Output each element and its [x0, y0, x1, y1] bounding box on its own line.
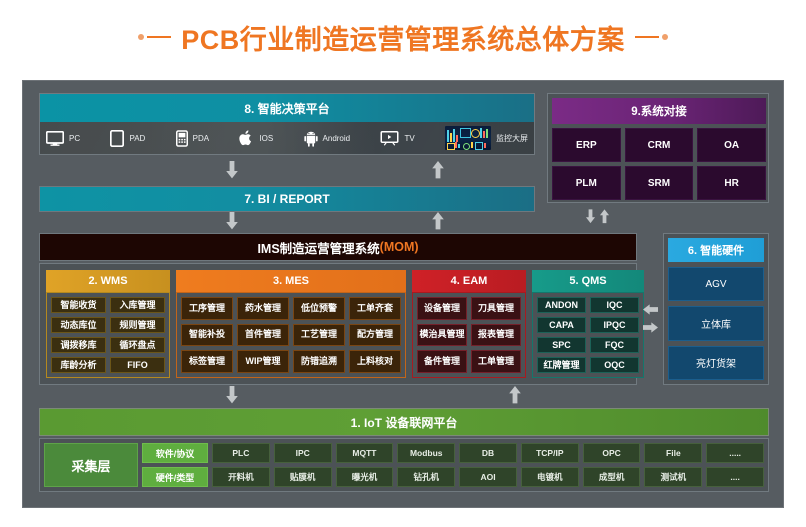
- device-pad[interactable]: PAD: [110, 130, 145, 147]
- arrow-up-iot-to-mom: [508, 386, 522, 404]
- slide-canvas: PCB行业制造运营管理系统总体方案 8. 智能决策平台 PC PA: [0, 0, 806, 527]
- device-label: TV: [404, 134, 414, 143]
- device-ios[interactable]: IOS: [239, 129, 273, 147]
- slide-title-row: PCB行业制造运营管理系统总体方案: [0, 14, 806, 60]
- docking-item-crm[interactable]: CRM: [625, 128, 694, 162]
- software-cell[interactable]: IPC: [274, 443, 332, 463]
- system-docking-title: 9.系统对接: [552, 98, 766, 124]
- collection-layer-table: 软件/协议 PLC IPC MQTT Modbus DB TCP/IP OPC …: [142, 443, 764, 487]
- wms-item[interactable]: FIFO: [110, 357, 165, 373]
- hardware-cell[interactable]: 测试机: [644, 467, 702, 487]
- docking-item-oa[interactable]: OA: [697, 128, 766, 162]
- module-qms: 5. QMS ANDON IQC CAPA IPQC SPC FQC 红牌管理 …: [532, 270, 644, 378]
- device-label: PC: [69, 134, 80, 143]
- device-tv[interactable]: TV: [380, 131, 414, 146]
- decision-platform-title: 8. 智能决策平台: [40, 94, 534, 122]
- module-eam-title: 4. EAM: [412, 270, 526, 292]
- iot-platform-bar: 1. IoT 设备联网平台: [39, 408, 769, 436]
- eam-item[interactable]: 工单管理: [471, 350, 521, 373]
- mes-item[interactable]: 工序管理: [181, 297, 233, 320]
- arrow-up-mom-to-bi: [431, 212, 445, 230]
- module-mes-grid: 工序管理 药水管理 低位预警 工单齐套 智能补投 首件管理 工艺管理 配方管理 …: [176, 292, 406, 378]
- module-qms-title: 5. QMS: [532, 270, 644, 292]
- arrow-down-mom-to-iot: [225, 386, 239, 404]
- software-cell[interactable]: PLC: [212, 443, 270, 463]
- docking-item-erp[interactable]: ERP: [552, 128, 621, 162]
- hardware-cell[interactable]: 电镀机: [521, 467, 579, 487]
- module-mes-title: 3. MES: [176, 270, 406, 292]
- module-wms: 2. WMS 智能收货 入库管理 动态库位 规则管理 调拨移库 循环盘点 库龄分…: [46, 270, 170, 378]
- mes-item[interactable]: WIP管理: [237, 350, 289, 373]
- wms-item[interactable]: 循环盘点: [110, 337, 165, 353]
- hardware-cell[interactable]: 成型机: [583, 467, 641, 487]
- hardware-item-light-shelf[interactable]: 亮灯货架: [668, 346, 764, 380]
- software-cell[interactable]: .....: [706, 443, 764, 463]
- table-row: 软件/协议 PLC IPC MQTT Modbus DB TCP/IP OPC …: [142, 443, 764, 463]
- software-cell[interactable]: File: [644, 443, 702, 463]
- mes-item[interactable]: 低位预警: [293, 297, 345, 320]
- mes-item[interactable]: 工艺管理: [293, 324, 345, 347]
- system-docking-panel: 9.系统对接 ERP CRM OA PLM SRM HR: [547, 93, 769, 203]
- hardware-cell[interactable]: AOI: [459, 467, 517, 487]
- smart-hardware-panel: 6. 智能硬件 AGV 立体库 亮灯货架: [663, 233, 769, 385]
- page-title: PCB行业制造运营管理系统总体方案: [181, 18, 625, 57]
- collection-layer-title: 采集层: [44, 443, 138, 487]
- docking-item-hr[interactable]: HR: [697, 166, 766, 200]
- arrow-up-bi-to-platform: [431, 161, 445, 179]
- software-cell[interactable]: MQTT: [336, 443, 394, 463]
- device-label: IOS: [259, 134, 273, 143]
- arrow-down-bi-to-mom: [225, 212, 239, 230]
- row-label-hardware: 硬件/类型: [142, 467, 208, 487]
- qms-item[interactable]: ANDON: [537, 297, 586, 313]
- arrow-right-mom-to-hardware: [643, 321, 658, 334]
- wms-item[interactable]: 规则管理: [110, 317, 165, 333]
- device-android[interactable]: Android: [304, 130, 351, 147]
- arrow-up-mom-to-docking: [599, 209, 610, 224]
- wms-item[interactable]: 库龄分析: [51, 357, 106, 373]
- hardware-cell[interactable]: 曝光机: [336, 467, 394, 487]
- software-cell[interactable]: Modbus: [397, 443, 455, 463]
- module-eam: 4. EAM 设备管理 刀具管理 模治具管理 报表管理 备件管理 工单管理: [412, 270, 526, 378]
- mes-item[interactable]: 药水管理: [237, 297, 289, 320]
- qms-item[interactable]: IQC: [590, 297, 639, 313]
- device-label: PAD: [129, 134, 145, 143]
- mes-item[interactable]: 智能补投: [181, 324, 233, 347]
- android-icon: [304, 130, 318, 147]
- mom-title-accent: (MOM): [380, 240, 419, 254]
- mes-item[interactable]: 首件管理: [237, 324, 289, 347]
- dashboard-icon: [445, 126, 491, 150]
- wms-item[interactable]: 智能收货: [51, 297, 106, 313]
- qms-item[interactable]: IPQC: [590, 317, 639, 333]
- qms-item[interactable]: 红牌管理: [537, 357, 586, 373]
- decision-platform-panel: 8. 智能决策平台 PC PAD: [39, 93, 535, 155]
- qms-item[interactable]: SPC: [537, 337, 586, 353]
- wms-item[interactable]: 动态库位: [51, 317, 106, 333]
- docking-item-plm[interactable]: PLM: [552, 166, 621, 200]
- wms-item[interactable]: 入库管理: [110, 297, 165, 313]
- module-mes: 3. MES 工序管理 药水管理 低位预警 工单齐套 智能补投 首件管理 工艺管…: [176, 270, 406, 378]
- mes-item[interactable]: 标签管理: [181, 350, 233, 373]
- device-label: PDA: [193, 134, 209, 143]
- smart-hardware-title: 6. 智能硬件: [668, 238, 764, 262]
- eam-item[interactable]: 设备管理: [417, 297, 467, 320]
- hardware-cell[interactable]: 开料机: [212, 467, 270, 487]
- arrow-down-platform-to-bi: [225, 161, 239, 179]
- module-qms-grid: ANDON IQC CAPA IPQC SPC FQC 红牌管理 OQC: [532, 292, 644, 378]
- modules-container: 2. WMS 智能收货 入库管理 动态库位 规则管理 调拨移库 循环盘点 库龄分…: [39, 263, 637, 385]
- device-pda[interactable]: PDA: [176, 130, 209, 147]
- hardware-item-agv[interactable]: AGV: [668, 267, 764, 301]
- eam-item[interactable]: 模治具管理: [417, 324, 467, 347]
- mes-item[interactable]: 工单齐套: [349, 297, 401, 320]
- module-eam-grid: 设备管理 刀具管理 模治具管理 报表管理 备件管理 工单管理: [412, 292, 526, 378]
- arrow-left-hardware-to-mom: [643, 303, 658, 316]
- qms-item[interactable]: OQC: [590, 357, 639, 373]
- title-decor-right: [635, 34, 668, 40]
- eam-item[interactable]: 备件管理: [417, 350, 467, 373]
- diagram-frame: 8. 智能决策平台 PC PAD: [22, 80, 784, 508]
- device-pc[interactable]: PC: [46, 131, 80, 146]
- apple-icon: [239, 129, 254, 147]
- row-label-software: 软件/协议: [142, 443, 208, 463]
- tv-icon: [380, 131, 399, 146]
- tablet-icon: [110, 130, 124, 147]
- qms-item[interactable]: FQC: [590, 337, 639, 353]
- table-row: 硬件/类型 开料机 贴膜机 曝光机 钻孔机 AOI 电镀机 成型机 测试机 ..…: [142, 467, 764, 487]
- title-decor-left: [138, 34, 171, 40]
- hardware-cell[interactable]: 钻孔机: [397, 467, 455, 487]
- mes-item[interactable]: 上料核对: [349, 350, 401, 373]
- eam-item[interactable]: 报表管理: [471, 324, 521, 347]
- mes-item[interactable]: 配方管理: [349, 324, 401, 347]
- hardware-cell[interactable]: ....: [706, 467, 764, 487]
- bi-report-bar: 7. BI / REPORT: [39, 186, 535, 212]
- qms-item[interactable]: CAPA: [537, 317, 586, 333]
- module-wms-title: 2. WMS: [46, 270, 170, 292]
- hardware-cell[interactable]: 贴膜机: [274, 467, 332, 487]
- software-cell[interactable]: OPC: [583, 443, 641, 463]
- mes-item[interactable]: 防错追溯: [293, 350, 345, 373]
- monitor-icon: [46, 131, 64, 146]
- software-cell[interactable]: TCP/IP: [521, 443, 579, 463]
- device-label: Android: [323, 134, 351, 143]
- arrow-down-docking-to-mom: [585, 209, 596, 224]
- mom-system-bar: IMS制造运营管理系统(MOM): [39, 233, 637, 261]
- device-dashboard[interactable]: 监控大屏: [445, 126, 528, 150]
- hardware-item-stereo-warehouse[interactable]: 立体库: [668, 306, 764, 340]
- handheld-icon: [176, 130, 188, 147]
- module-wms-grid: 智能收货 入库管理 动态库位 规则管理 调拨移库 循环盘点 库龄分析 FIFO: [46, 292, 170, 378]
- wms-item[interactable]: 调拨移库: [51, 337, 106, 353]
- eam-item[interactable]: 刀具管理: [471, 297, 521, 320]
- system-docking-grid: ERP CRM OA PLM SRM HR: [552, 128, 766, 200]
- docking-item-srm[interactable]: SRM: [625, 166, 694, 200]
- mom-title-main: IMS制造运营管理系统: [257, 238, 379, 257]
- collection-layer-panel: 采集层 软件/协议 PLC IPC MQTT Modbus DB TCP/IP …: [39, 438, 769, 492]
- device-label: 监控大屏: [496, 133, 528, 144]
- device-row: PC PAD PDA: [40, 122, 534, 154]
- software-cell[interactable]: DB: [459, 443, 517, 463]
